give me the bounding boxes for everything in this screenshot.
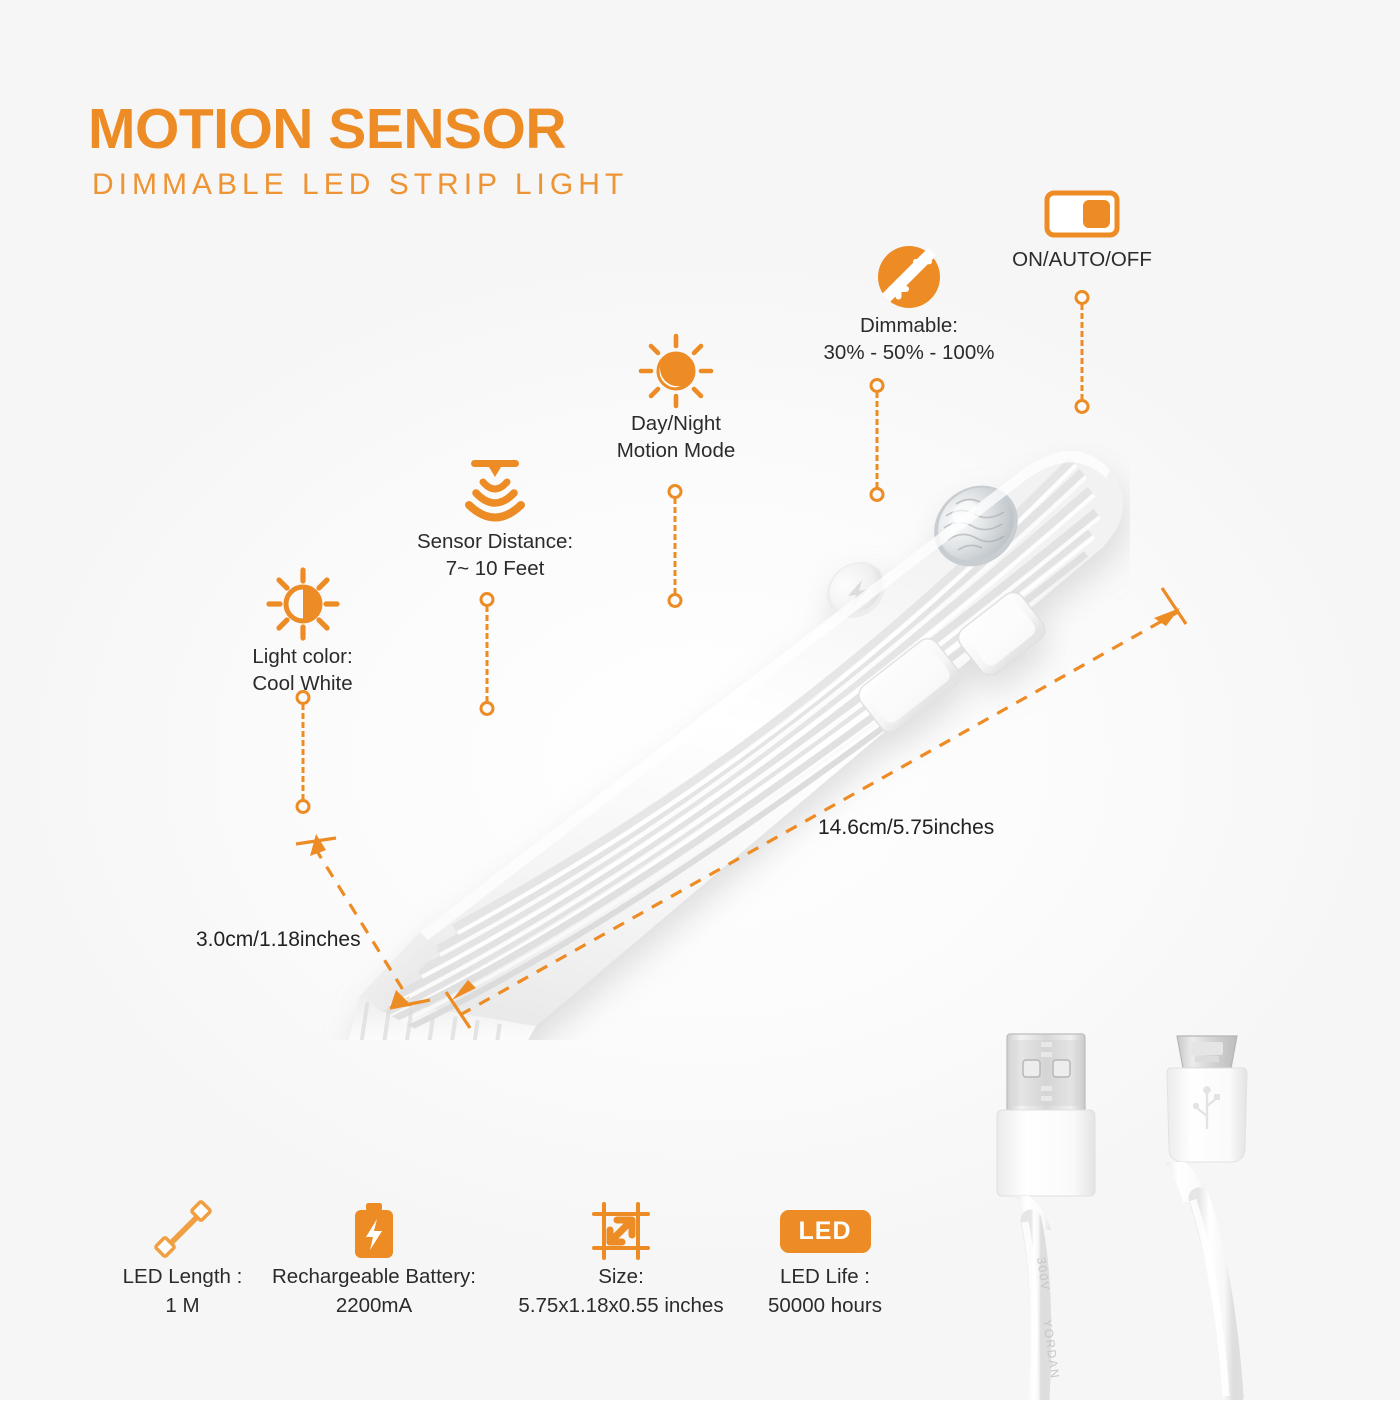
spec-led-life: LED LED Life : 50000 hours bbox=[710, 1200, 940, 1320]
leader-line-dimmable bbox=[862, 378, 892, 502]
callout-sensor-distance-line2: 7~ 10 Feet bbox=[380, 555, 610, 582]
spec-battery-label: Rechargeable Battery: bbox=[240, 1262, 508, 1291]
callout-dimmable-line2: 30% - 50% - 100% bbox=[778, 339, 1040, 366]
motion-waves-icon bbox=[457, 452, 533, 528]
toggle-switch-icon bbox=[1044, 190, 1120, 238]
sun-moon-icon bbox=[637, 332, 715, 410]
callout-dimmable-line1: Dimmable: bbox=[778, 312, 1040, 339]
led-badge-text: LED bbox=[799, 1217, 852, 1245]
micro-usb-connector bbox=[1165, 1036, 1247, 1396]
usb-cable-illustration: 300V YORDAN bbox=[955, 1020, 1355, 1400]
battery-bolt-icon-wrap bbox=[240, 1200, 508, 1262]
spec-led-life-value: 50000 hours bbox=[710, 1291, 940, 1320]
specs-row: LED Length : 1 M Rechargeable Battery: 2… bbox=[90, 1200, 870, 1370]
leader-line-on-auto-off bbox=[1067, 290, 1097, 414]
resize-arrow-icon bbox=[590, 1200, 652, 1262]
ruler-diagonal-icon bbox=[152, 1200, 214, 1262]
infographic-canvas: MOTION SENSOR DIMMABLE LED STRIP LIGHT bbox=[0, 0, 1400, 1400]
half-sun-icon bbox=[264, 565, 342, 643]
page-title: MOTION SENSOR bbox=[88, 96, 566, 162]
spec-led-life-label: LED Life : bbox=[710, 1262, 940, 1291]
page-subtitle: DIMMABLE LED STRIP LIGHT bbox=[92, 168, 628, 202]
callout-day-night: Day/Night Motion Mode bbox=[565, 332, 787, 464]
callout-light-color: Light color: Cool White bbox=[190, 565, 415, 697]
dimension-width-label: 3.0cm/1.18inches bbox=[196, 928, 361, 952]
led-badge-icon-wrap: LED bbox=[710, 1200, 940, 1262]
leader-line-day-night bbox=[660, 484, 690, 608]
plus-minus-circle-icon bbox=[874, 242, 944, 312]
callout-sensor-distance-line1: Sensor Distance: bbox=[380, 528, 610, 555]
callout-day-night-line1: Day/Night bbox=[565, 410, 787, 437]
dimension-length-label: 14.6cm/5.75inches bbox=[818, 816, 994, 840]
usb-a-connector: 300V YORDAN bbox=[997, 1034, 1095, 1400]
spec-battery-value: 2200mA bbox=[240, 1291, 508, 1320]
callout-on-auto-off-line1: ON/AUTO/OFF bbox=[968, 246, 1196, 273]
callout-sensor-distance: Sensor Distance: 7~ 10 Feet bbox=[380, 452, 610, 582]
leader-line-sensor-distance bbox=[472, 592, 502, 716]
usb-cable-image: 300V YORDAN bbox=[955, 1020, 1355, 1400]
spec-battery: Rechargeable Battery: 2200mA bbox=[240, 1200, 508, 1320]
battery-bolt-icon bbox=[347, 1200, 401, 1262]
callout-day-night-line2: Motion Mode bbox=[565, 437, 787, 464]
leader-line-light-color bbox=[288, 690, 318, 814]
callout-on-auto-off: ON/AUTO/OFF bbox=[968, 190, 1196, 273]
callout-light-color-line1: Light color: bbox=[190, 643, 415, 670]
